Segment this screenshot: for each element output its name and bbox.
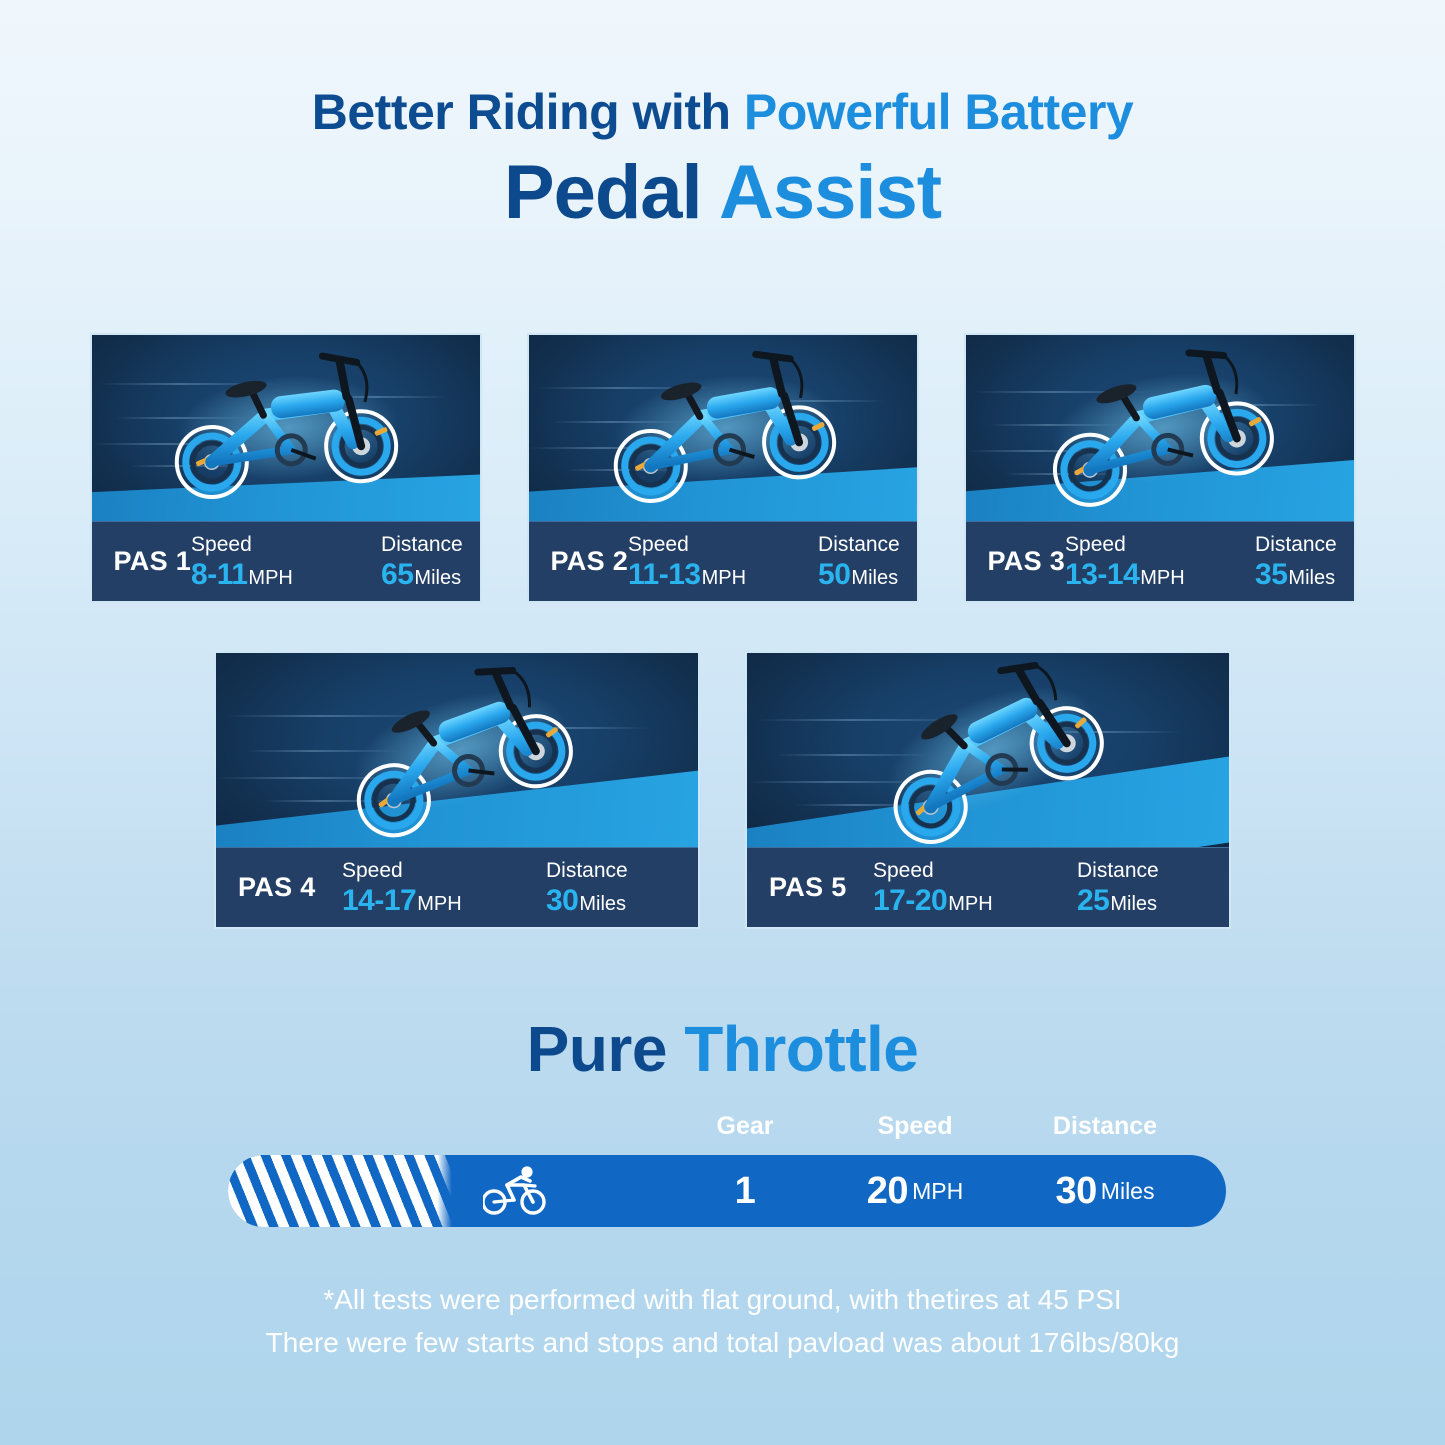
pas-level-label: PAS 5 [769, 872, 847, 903]
throttle-distance-value-cell: 30Miles [1020, 1155, 1190, 1227]
distance-value-row: 25Miles [1077, 886, 1157, 916]
speed-unit: MPH [1140, 567, 1184, 589]
speed-label: Speed [628, 534, 689, 555]
infographic-page: Better Riding with Powerful Battery Peda… [0, 0, 1445, 1445]
pas-level-label: PAS 1 [114, 546, 192, 577]
pas-level-label: PAS 4 [238, 872, 316, 903]
distance-value: 30 [546, 884, 578, 917]
distance-metric: Distance 25Miles [1077, 860, 1217, 916]
throttle-gear-value: 1 [735, 1170, 756, 1213]
pas-info-strip: PAS 1 Speed 8-11MPH Distance 65Miles [92, 521, 480, 601]
throttle-gear-value-cell: 1 [680, 1155, 810, 1227]
distance-value: 35 [1255, 558, 1287, 591]
bike-photo [966, 335, 1354, 521]
speed-unit: MPH [248, 567, 292, 589]
distance-label: Distance [381, 534, 463, 555]
pas-info-strip: PAS 3 Speed 13-14MPH Distance 35Miles [966, 521, 1354, 601]
throttle-title-part1: Pure [527, 1013, 685, 1085]
pas-card-grid: PAS 1 Speed 8-11MPH Distance 65Miles [0, 333, 1445, 929]
bike-photo [529, 335, 917, 521]
page-title: Pedal Assist [0, 153, 1445, 233]
speed-unit: MPH [417, 893, 461, 915]
speed-value-row: 13-14MPH [1065, 560, 1185, 590]
ebike-illustration [567, 335, 883, 521]
distance-value: 65 [381, 558, 413, 591]
speed-value-row: 11-13MPH [628, 560, 746, 590]
speed-value-row: 14-17MPH [342, 886, 462, 916]
pas-metrics: Speed 8-11MPH Distance 65Miles [191, 534, 481, 590]
throttle-stripes [228, 1155, 453, 1227]
distance-value: 25 [1077, 884, 1109, 917]
speed-value-row: 8-11MPH [191, 560, 293, 590]
distance-unit: Miles [579, 893, 626, 915]
pas-card[interactable]: PAS 1 Speed 8-11MPH Distance 65Miles [90, 333, 482, 603]
pas-metrics: Speed 17-20MPH Distance 25Miles [847, 860, 1217, 916]
distance-value-row: 65Miles [381, 560, 461, 590]
distance-value-row: 35Miles [1255, 560, 1335, 590]
ebike-svg [133, 335, 441, 518]
distance-unit: Miles [1110, 893, 1157, 915]
distance-metric: Distance 35Miles [1255, 534, 1355, 590]
distance-label: Distance [1077, 860, 1159, 881]
speed-value: 14-17 [342, 884, 416, 917]
pas-metrics: Speed 11-13MPH Distance 50Miles [628, 534, 918, 590]
ebike-svg [567, 335, 883, 521]
speed-unit: MPH [948, 893, 992, 915]
cyclist-icon [483, 1166, 547, 1216]
pas-level-label: PAS 2 [551, 546, 629, 577]
distance-metric: Distance 30Miles [546, 860, 686, 916]
distance-value: 50 [818, 558, 850, 591]
speed-label: Speed [1065, 534, 1126, 555]
footnote-line-1: *All tests were performed with flat grou… [0, 1278, 1445, 1321]
subtitle-part1: Better Riding with [312, 84, 744, 140]
pas-info-strip: PAS 2 Speed 11-13MPH Distance 50Miles [529, 521, 917, 601]
footnote: *All tests were performed with flat grou… [0, 1278, 1445, 1365]
throttle-title-highlight: Throttle [684, 1013, 918, 1085]
speed-column-header: Speed [850, 1112, 980, 1141]
throttle-distance-unit: Miles [1101, 1178, 1155, 1205]
speed-value: 17-20 [873, 884, 947, 917]
speed-metric: Speed 14-17MPH [342, 860, 528, 916]
distance-value-row: 30Miles [546, 886, 626, 916]
distance-unit: Miles [851, 567, 898, 589]
ebike-svg [1000, 335, 1323, 521]
speed-metric: Speed 11-13MPH [628, 534, 800, 590]
footnote-line-2: There were few starts and stops and tota… [0, 1321, 1445, 1364]
pas-row-bottom: PAS 4 Speed 14-17MPH Distance 30Miles [0, 651, 1445, 929]
distance-label: Distance [1255, 534, 1337, 555]
speed-metric: Speed 13-14MPH [1065, 534, 1237, 590]
throttle-distance-value: 30 [1056, 1170, 1097, 1213]
ebike-illustration [133, 335, 441, 518]
distance-label: Distance [546, 860, 628, 881]
distance-unit: Miles [414, 567, 461, 589]
page-title-part1: Pedal [504, 150, 719, 235]
speed-metric: Speed 8-11MPH [191, 534, 363, 590]
speed-unit: MPH [702, 567, 746, 589]
speed-metric: Speed 17-20MPH [873, 860, 1059, 916]
throttle-speed-value: 20 [867, 1170, 908, 1213]
distance-metric: Distance 50Miles [818, 534, 918, 590]
subtitle: Better Riding with Powerful Battery [0, 86, 1445, 139]
distance-value-row: 50Miles [818, 560, 898, 590]
ebike-illustration [1000, 335, 1323, 521]
pas-level-label: PAS 3 [988, 546, 1066, 577]
pas-metrics: Speed 13-14MPH Distance 35Miles [1065, 534, 1355, 590]
throttle-bar[interactable]: 1 20MPH 30Miles [228, 1155, 1226, 1227]
heading-block: Better Riding with Powerful Battery Peda… [0, 0, 1445, 232]
speed-label: Speed [191, 534, 252, 555]
pas-card[interactable]: PAS 2 Speed 11-13MPH Distance 50Miles [527, 333, 919, 603]
distance-unit: Miles [1288, 567, 1335, 589]
gear-column-header: Gear [680, 1112, 810, 1141]
pas-metrics: Speed 14-17MPH Distance 30Miles [316, 860, 686, 916]
speed-label: Speed [873, 860, 934, 881]
throttle-speed-value-cell: 20MPH [850, 1155, 980, 1227]
throttle-column-headers: Gear Speed Distance [0, 1112, 1445, 1156]
subtitle-highlight: Powerful Battery [744, 84, 1133, 140]
speed-value: 13-14 [1065, 558, 1139, 591]
bike-photo [216, 653, 698, 847]
throttle-speed-unit: MPH [912, 1178, 963, 1205]
bike-photo [92, 335, 480, 521]
bike-photo [747, 653, 1229, 847]
pas-info-strip: PAS 5 Speed 17-20MPH Distance 25Miles [747, 847, 1229, 927]
speed-value: 8-11 [191, 558, 247, 591]
speed-value-row: 17-20MPH [873, 886, 993, 916]
pas-info-strip: PAS 4 Speed 14-17MPH Distance 30Miles [216, 847, 698, 927]
pas-card[interactable]: PAS 4 Speed 14-17MPH Distance 30Miles [214, 651, 700, 929]
pas-row-top: PAS 1 Speed 8-11MPH Distance 65Miles [0, 333, 1445, 603]
pas-card[interactable]: PAS 5 Speed 17-20MPH Distance 25Miles [745, 651, 1231, 929]
distance-column-header: Distance [1020, 1112, 1190, 1141]
page-title-highlight: Assist [719, 150, 941, 235]
speed-value: 11-13 [628, 558, 701, 591]
distance-label: Distance [818, 534, 900, 555]
throttle-title: Pure Throttle [0, 1012, 1445, 1086]
distance-metric: Distance 65Miles [381, 534, 481, 590]
speed-label: Speed [342, 860, 403, 881]
pas-card[interactable]: PAS 3 Speed 13-14MPH Distance 35Miles [964, 333, 1356, 603]
